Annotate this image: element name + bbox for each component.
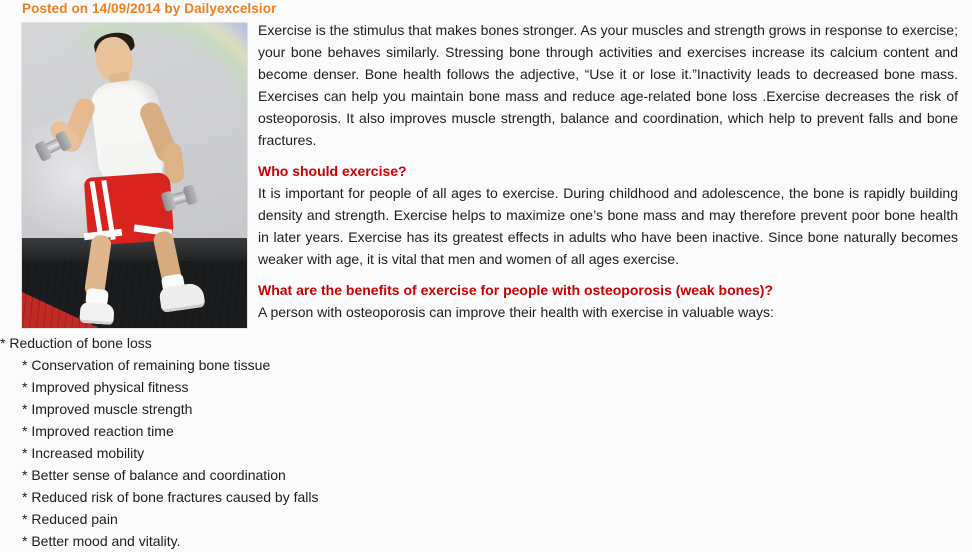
- list-item: * Conservation of remaining bone tissue: [22, 354, 972, 376]
- list-item: * Better sense of balance and coordinati…: [22, 464, 972, 486]
- dumbbell-right: [164, 189, 196, 208]
- list-item: * Better mood and vitality.: [22, 530, 972, 552]
- list-item: * Improved reaction time: [22, 420, 972, 442]
- benefits-list: * Conservation of remaining bone tissue …: [0, 354, 972, 552]
- photo-canvas: [22, 23, 247, 328]
- article-page: Posted on 14/09/2014 by Dailyexcelsior: [0, 0, 972, 526]
- article-photo: [21, 22, 248, 329]
- list-item: * Reduced risk of bone fractures caused …: [22, 486, 972, 508]
- list-item: * Increased mobility: [22, 442, 972, 464]
- benefit-item-first: * Reduction of bone loss: [0, 332, 972, 354]
- post-byline: Posted on 14/09/2014 by Dailyexcelsior: [22, 1, 276, 16]
- article-body: Exercise is the stimulus that makes bone…: [0, 19, 972, 552]
- photo-person: [22, 23, 247, 328]
- person-left-shoe: [79, 302, 114, 325]
- list-item: * Improved physical fitness: [22, 376, 972, 398]
- list-item: * Improved muscle strength: [22, 398, 972, 420]
- list-item: * Reduced pain: [22, 508, 972, 530]
- person-right-shoe: [158, 282, 205, 313]
